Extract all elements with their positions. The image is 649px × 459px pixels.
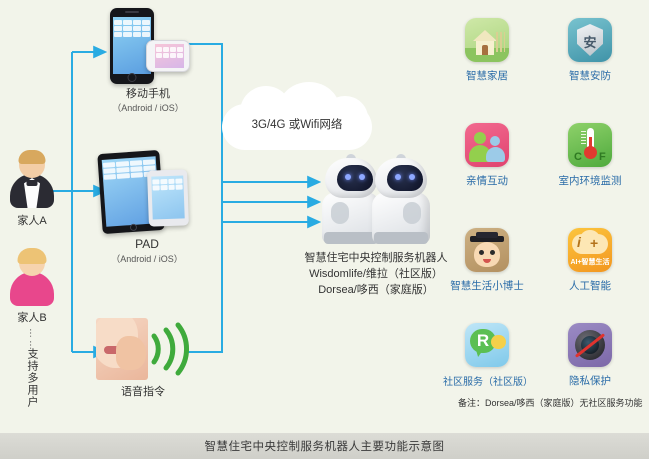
feature-label-community[interactable]: 社区服务（社区版） (440, 373, 536, 388)
phone-sublabel: （Android / iOS） (98, 102, 198, 115)
ai-i-glyph: i (577, 234, 581, 250)
feature-label-privacy[interactable]: 隐私保护 (546, 373, 634, 388)
thermometer-scale (581, 131, 586, 145)
features-note: 备注：Dorsea/哆西（家庭版）无社区服务功能 (458, 396, 643, 409)
robot-eye (359, 174, 365, 180)
bubble-green-tail (476, 350, 483, 357)
robot-eye (409, 174, 415, 180)
voice-label: 语音指令 (88, 386, 198, 399)
avatar (5, 248, 59, 312)
boy-face (474, 242, 500, 267)
house-door (482, 45, 488, 55)
diagram-canvas: 家人A 家人B …… 支持多用户 移动手机 （Android / iOS） (0, 0, 649, 459)
hand-shape (116, 336, 146, 370)
phone-app-grid (156, 47, 183, 58)
security-shield-icon[interactable]: 安 (568, 18, 612, 62)
phone-home-button (128, 73, 137, 82)
person-blue-body (486, 147, 505, 162)
robot-head (375, 158, 427, 198)
feature-label-ai[interactable]: 人工智能 (546, 278, 634, 293)
house-roof (473, 30, 497, 41)
pad-sublabel: （Android / iOS） (92, 253, 202, 266)
graduate-boy-icon[interactable] (465, 228, 509, 272)
robot-face (337, 165, 373, 191)
boy-eye (479, 250, 484, 255)
avatar (5, 150, 59, 214)
sound-waves-icon (148, 322, 196, 376)
caption-text: 智慧住宅中央控制服务机器人主要功能示意图 (205, 438, 445, 454)
user-b-label: 家人B (0, 312, 64, 325)
feature-label-smart-home[interactable]: 智慧家居 (443, 68, 531, 83)
robot-base (374, 232, 428, 244)
feature-label-family[interactable]: 亲情互动 (443, 173, 531, 188)
ai-tag-glyph: AI+智慧生活 (568, 257, 612, 267)
bubble-yellow (491, 335, 506, 349)
fahrenheit-glyph: F (599, 151, 606, 163)
ai-cloud-icon[interactable]: i + AI+智慧生活 (568, 228, 612, 272)
feature-label-doctor[interactable]: 智慧生活小博士 (431, 278, 543, 293)
network-label: 3G/4G 或Wifi网络 (222, 116, 372, 132)
thermometer-icon[interactable]: C F (568, 123, 612, 167)
robot-base (324, 232, 378, 244)
robot-eye (345, 174, 351, 180)
tablet-app-grid (152, 178, 182, 190)
voice-command-icon (96, 318, 148, 380)
user-a-label: 家人A (0, 215, 64, 228)
feature-label-environment[interactable]: 室内环境监测 (546, 173, 634, 188)
robot-title: 智慧住宅中央控制服务机器人 (296, 252, 456, 265)
avatar-bowtie (27, 180, 38, 186)
community-service-icon[interactable]: R (465, 323, 509, 367)
shield-glyph: 安 (568, 32, 612, 51)
fence-shape (496, 32, 505, 52)
tablet-icon (147, 169, 189, 226)
phone-label: 移动手机 (98, 88, 198, 101)
boy-eye (490, 250, 495, 255)
avatar-hair (19, 150, 46, 164)
avatar-body (10, 272, 54, 306)
robot-chest-panel (403, 202, 421, 224)
feature-label-security[interactable]: 智慧安防 (546, 68, 634, 83)
celsius-glyph: C (574, 151, 582, 163)
ai-plus-glyph: + (590, 235, 598, 251)
tablet-screen (151, 175, 184, 219)
robot-face (387, 165, 423, 191)
person-blue-head (490, 136, 500, 146)
robot-chest-panel (331, 202, 349, 224)
family-interaction-icon[interactable] (465, 123, 509, 167)
privacy-camera-icon[interactable] (568, 323, 612, 367)
pad-label: PAD (92, 238, 202, 251)
robot-eye (395, 174, 401, 180)
caption-bar: 智慧住宅中央控制服务机器人主要功能示意图 (0, 433, 649, 459)
smartphone-icon (146, 40, 190, 72)
tablet-home-button (130, 224, 137, 231)
phone-app-grid (114, 20, 150, 37)
robot-body (372, 192, 430, 244)
phone-screen (155, 44, 184, 68)
avatar-hair (18, 248, 47, 264)
robot-icon (372, 158, 430, 244)
thermometer-mercury (589, 137, 592, 149)
smart-home-icon[interactable] (465, 18, 509, 62)
person-green-head (474, 132, 486, 144)
cloud-icon: 3G/4G 或Wifi网络 (222, 82, 372, 152)
phone-speaker (125, 11, 139, 13)
robot-head (325, 158, 377, 198)
graduation-cap-top (476, 232, 498, 238)
multi-user-note: 支持多用户 (24, 348, 40, 408)
